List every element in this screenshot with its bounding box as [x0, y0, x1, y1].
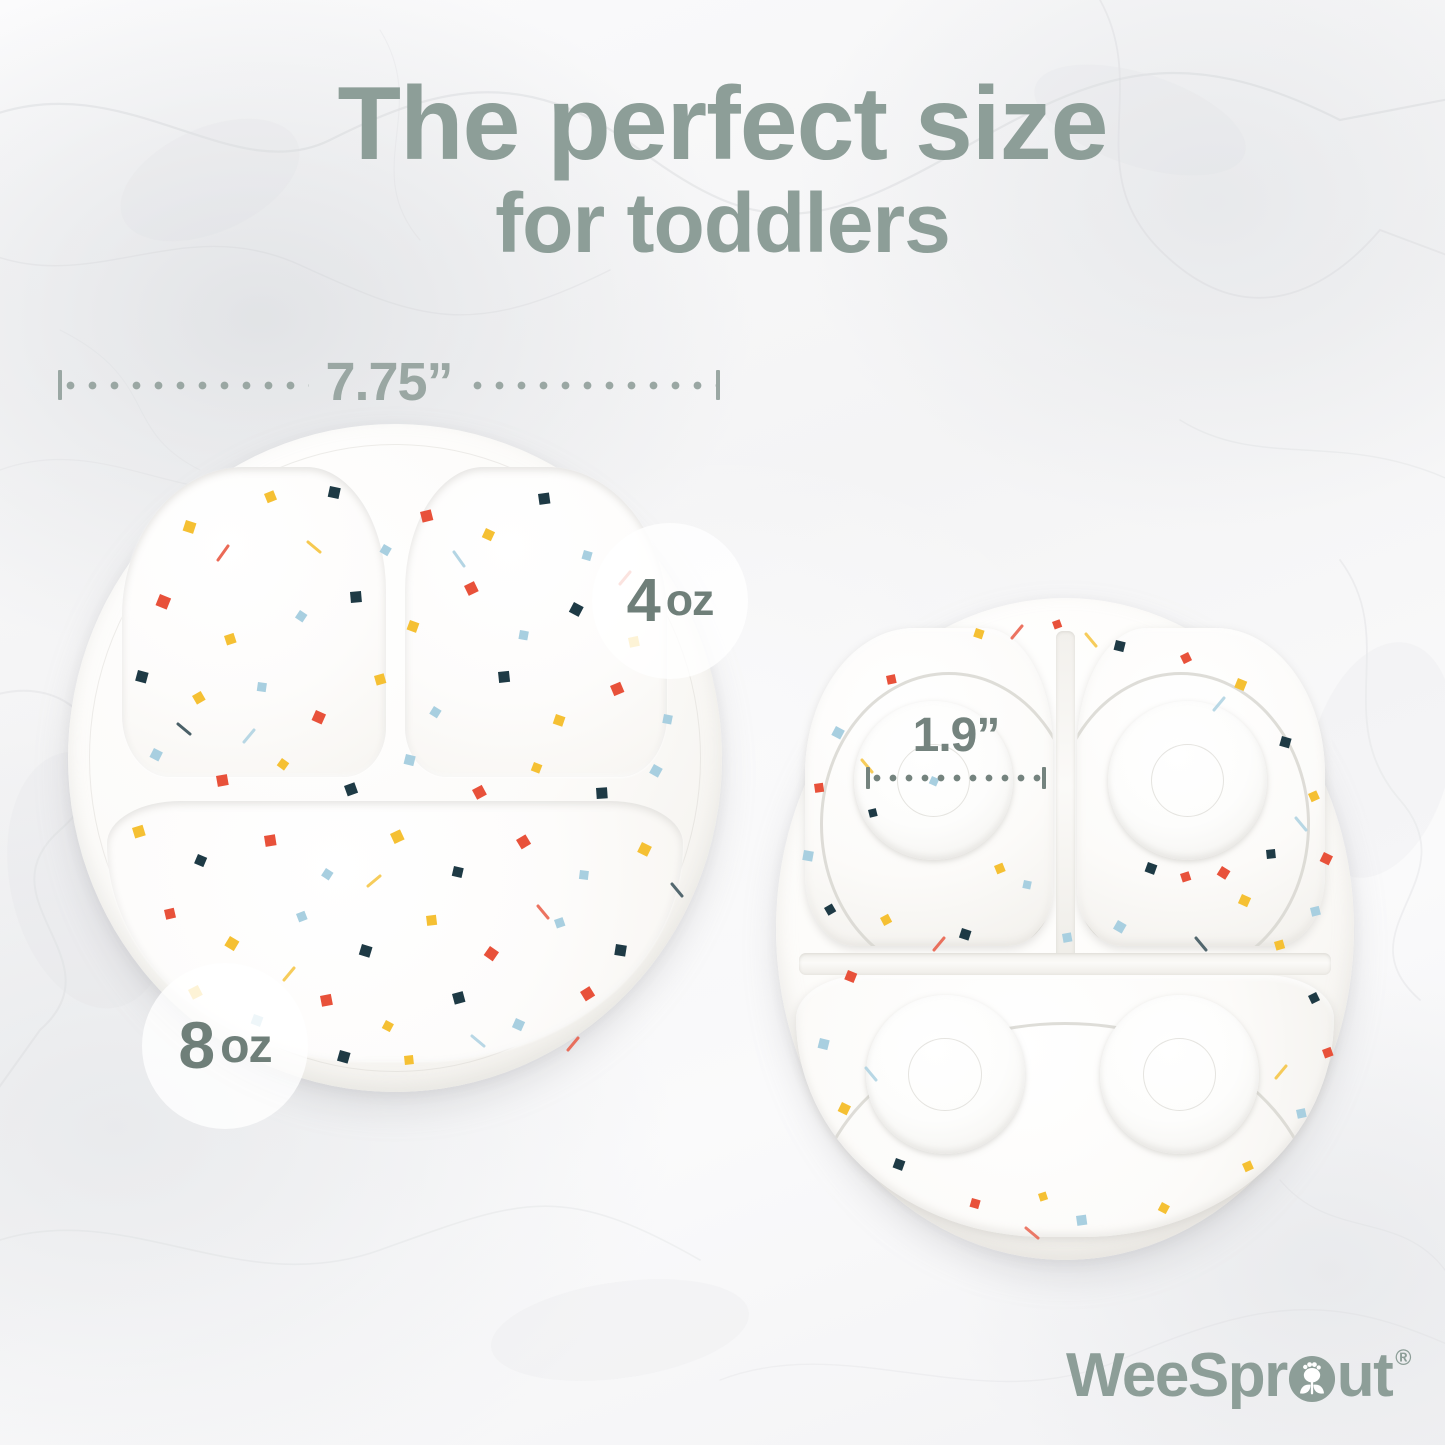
suction-dimension-dots	[870, 774, 1042, 782]
divider-channel-horizontal	[799, 953, 1331, 976]
capacity-badge-8oz-number: 8	[178, 1013, 214, 1079]
suction-cup-bottom-right	[1100, 995, 1259, 1154]
product-image-canvas: The perfect size for toddlers 7.75”	[0, 0, 1445, 1445]
headline-line-2: for toddlers	[0, 183, 1445, 264]
dimension-dots-right	[469, 381, 716, 390]
dimension-dots-left	[62, 381, 309, 390]
compartment-upper-left	[122, 467, 387, 778]
dimension-line-plate-width: 7.75”	[58, 362, 720, 408]
capacity-badge-8oz-unit: oz	[220, 1022, 272, 1070]
brand-wordmark-wee: Wee	[1066, 1345, 1188, 1407]
dimension-line-suction-cup	[866, 766, 1046, 790]
suction-cup-top-right	[1108, 701, 1267, 860]
dimension-label-suction-cup: 1.9”	[866, 712, 1046, 760]
brand-wordmark-spr: Spr	[1188, 1345, 1287, 1407]
headline: The perfect size for toddlers	[0, 74, 1445, 264]
capacity-badge-4oz-unit: oz	[666, 579, 714, 624]
dimension-callout-suction-cup: 1.9”	[866, 712, 1046, 808]
capacity-badge-8oz: 8 oz	[142, 963, 308, 1129]
divider-channel-vertical	[1056, 631, 1074, 975]
capacity-badge-4oz-number: 4	[627, 570, 660, 631]
suction-cup-bottom-left	[866, 995, 1025, 1154]
plate-back-view	[776, 598, 1354, 1260]
registered-trademark-symbol: ®	[1395, 1347, 1411, 1369]
brand-wordmark-ut: ut	[1337, 1345, 1393, 1407]
suction-dimension-cap-right	[1042, 767, 1046, 789]
headline-line-1: The perfect size	[0, 74, 1445, 175]
brand-wordmark: WeeSpr ut	[1066, 1345, 1392, 1407]
capacity-badge-4oz: 4 oz	[592, 523, 748, 679]
dimension-cap-right	[716, 370, 720, 400]
dimension-label-plate-width: 7.75”	[309, 355, 468, 409]
brand-logo: WeeSpr ut ®	[1066, 1345, 1411, 1407]
sprout-footprint-icon	[1288, 1355, 1336, 1403]
